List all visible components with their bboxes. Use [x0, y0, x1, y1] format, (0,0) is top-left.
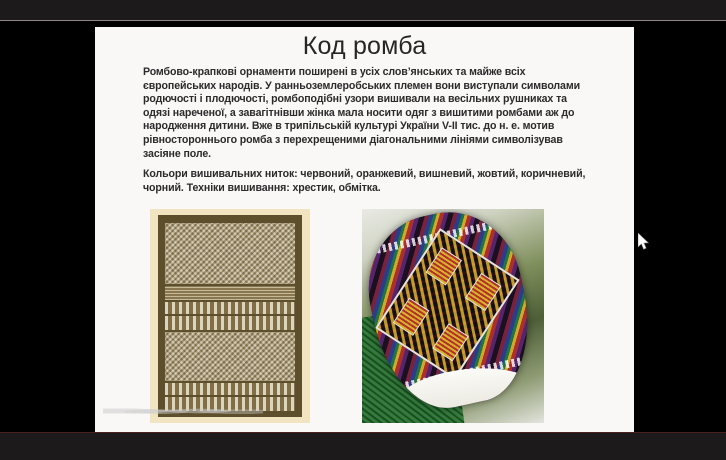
slide-title: Код ромба: [95, 31, 634, 61]
rushnyk-band-diamonds-lower: [165, 332, 295, 380]
faint-page-marks: [103, 404, 263, 418]
body-paragraph-2: Кольори вишивальних ниток: червоний, ора…: [143, 168, 595, 195]
figure-sepia-rushnyk-photo: [150, 209, 310, 423]
rhombus-dot-2: [465, 273, 501, 311]
presentation-stage[interactable]: Код ромба Ромбово-крапкові орнаменти пош…: [0, 21, 726, 432]
figure-colour-embroidery-photo: [362, 209, 544, 423]
rushnyk-image: [158, 215, 302, 417]
rushnyk-band-plain-1: [165, 286, 295, 300]
body-paragraph-1: Ромбово-крапкові орнаменти поширені в ус…: [143, 66, 595, 161]
bottom-divider: [0, 432, 726, 433]
rhombus-dot-4: [432, 323, 468, 361]
rushnyk-band-diamonds-upper: [165, 223, 295, 284]
slide-viewer: Код ромба Ромбово-крапкові орнаменти пош…: [0, 0, 726, 460]
rushnyk-band-floral-2: [165, 316, 295, 330]
rushnyk-band-floral-3: [165, 383, 295, 395]
slide-body-text: Ромбово-крапкові орнаменти поширені в ус…: [143, 66, 595, 195]
slide-canvas[interactable]: Код ромба Ромбово-крапкові орнаменти пош…: [95, 27, 634, 432]
rhombus-dot-1: [425, 247, 461, 285]
rhombus-dot-3: [392, 298, 428, 336]
rushnyk-band-floral-1: [165, 302, 295, 314]
